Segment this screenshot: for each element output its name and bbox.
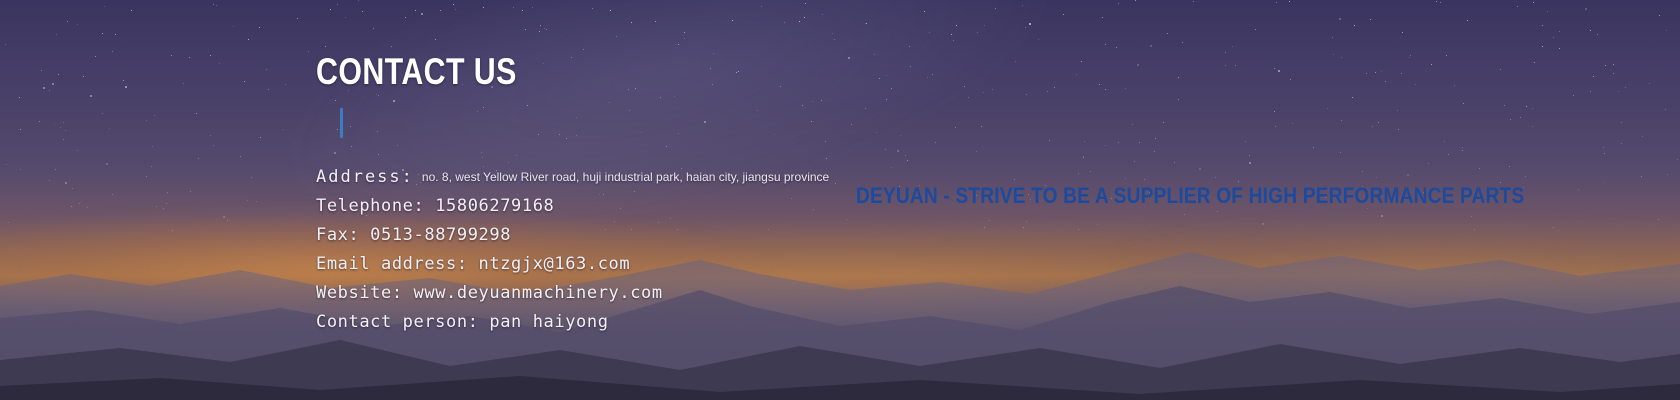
contact-row-label: Address:	[316, 167, 414, 187]
contact-row-value: pan haiyong	[479, 312, 609, 332]
contact-row-value: 15806279168	[424, 196, 554, 216]
contact-row-label: Telephone:	[316, 196, 424, 216]
company-slogan: DEYUAN - STRIVE TO BE A SUPPLIER OF HIGH…	[856, 182, 1524, 210]
contact-row-value: ntzgjx@163.com	[468, 254, 631, 274]
contact-row-value: 0513-88799298	[359, 225, 511, 245]
contact-row-value: no. 8, west Yellow River road, huji indu…	[422, 170, 829, 184]
contact-row-label: Fax:	[316, 225, 359, 245]
contact-row: Email address: ntzgjx@163.com	[316, 250, 956, 279]
banner-content: CONTACT US Address:no. 8, west Yellow Ri…	[0, 0, 1680, 400]
contact-row-label: Website:	[316, 283, 403, 303]
contact-row: Contact person: pan haiyong	[316, 308, 956, 337]
contact-row: Fax: 0513-88799298	[316, 221, 956, 250]
accent-bar	[340, 108, 343, 138]
page-title: CONTACT US	[316, 52, 841, 92]
contact-row-value: www.deyuanmachinery.com	[403, 283, 663, 303]
contact-row-label: Contact person:	[316, 312, 479, 332]
contact-row-label: Email address:	[316, 254, 468, 274]
contact-banner: CONTACT US Address:no. 8, west Yellow Ri…	[0, 0, 1680, 400]
contact-row: Website: www.deyuanmachinery.com	[316, 279, 956, 308]
